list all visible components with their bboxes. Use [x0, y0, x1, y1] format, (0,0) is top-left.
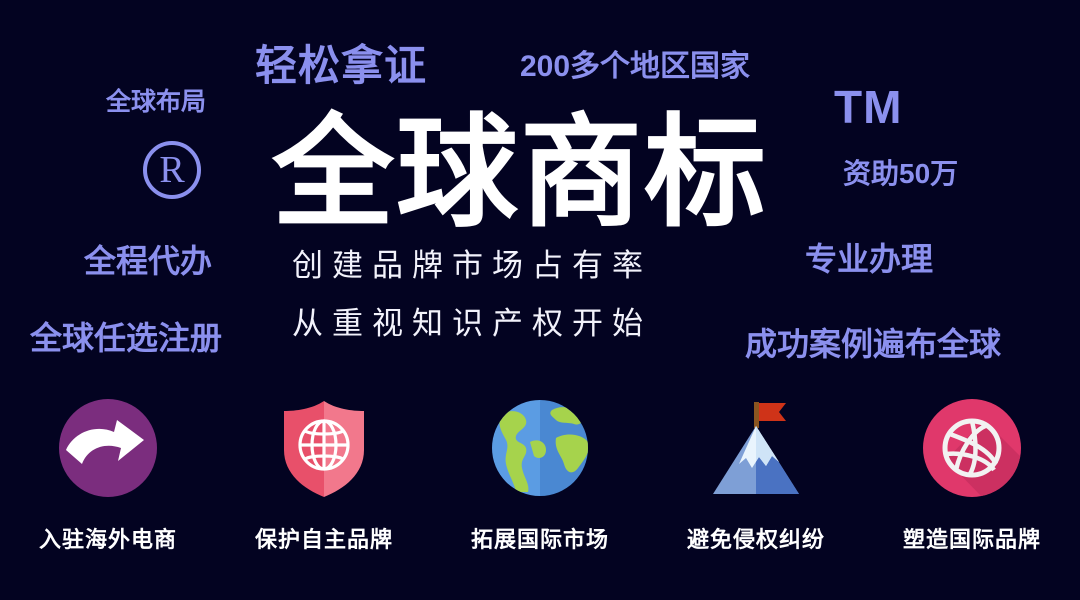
subtitle-line-2: 从重视知识产权开始	[292, 308, 652, 339]
keyword-200-countries: 200多个地区国家	[520, 52, 750, 82]
page-title: 全球商标	[272, 112, 768, 234]
shield-globe-icon	[274, 398, 374, 498]
feature-label: 保护自主品牌	[255, 522, 393, 554]
promo-poster: 全球布局 轻松拿证 200多个地区国家 TM 资助50万 全程代办 专业办理 全…	[0, 0, 1080, 600]
earth-globe-icon	[490, 398, 590, 498]
feature-label: 塑造国际品牌	[903, 522, 1041, 554]
subtitle-line-1: 创建品牌市场占有率	[292, 250, 652, 281]
feature-item-build-brand: 塑造国际品牌	[864, 398, 1080, 573]
dribbble-ball-icon	[922, 398, 1022, 498]
feature-label: 拓展国际市场	[471, 522, 609, 554]
keyword-subsidy-500k: 资助50万	[843, 160, 958, 188]
keyword-quanqiubuju: 全球布局	[106, 90, 206, 115]
feature-item-expand-market: 拓展国际市场	[432, 398, 648, 573]
feature-row: 入驻海外电商 保护自主品牌	[0, 398, 1080, 573]
keyword-chenggonganli: 成功案例遍布全球	[745, 328, 1001, 360]
feature-label: 入驻海外电商	[39, 522, 177, 554]
feature-item-overseas-ecommerce: 入驻海外电商	[0, 398, 216, 573]
keyword-zhuanyebanli: 专业办理	[805, 243, 933, 275]
purple-circle-arrow-icon	[58, 398, 158, 498]
feature-item-avoid-infringement: 避免侵权纠纷	[648, 398, 864, 573]
keyword-qingsongnazheng: 轻松拿证	[255, 45, 427, 87]
feature-label: 避免侵权纠纷	[687, 522, 825, 554]
registered-trademark-icon: R	[143, 141, 201, 199]
keyword-quanchengdaiban: 全程代办	[84, 245, 212, 277]
mountain-flag-icon	[706, 398, 806, 498]
keyword-quanqiurenxuan: 全球任选注册	[30, 322, 222, 354]
trademark-tm-mark: TM	[834, 84, 902, 130]
feature-item-protect-brand: 保护自主品牌	[216, 398, 432, 573]
